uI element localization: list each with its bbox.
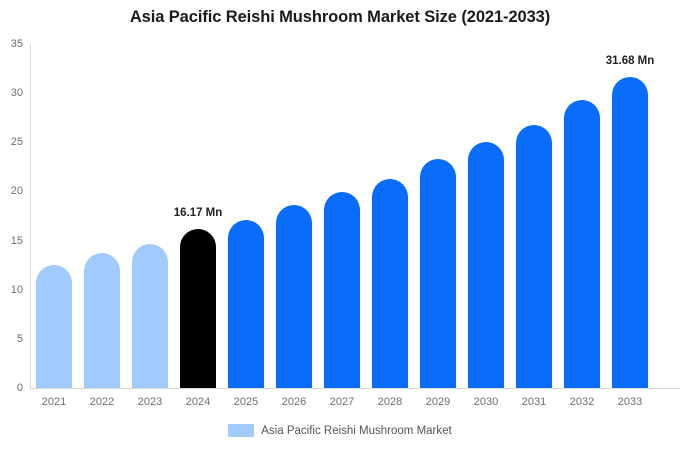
- x-axis-tick-2030: 2030: [462, 396, 510, 408]
- x-axis-tick-2025: 2025: [222, 396, 270, 408]
- bar-2033[interactable]: [612, 77, 648, 388]
- bar-2022[interactable]: [84, 253, 120, 388]
- x-axis-tick-2027: 2027: [318, 396, 366, 408]
- bar-2029[interactable]: [420, 159, 456, 388]
- bar-2028[interactable]: [372, 179, 408, 388]
- bar-2027[interactable]: [324, 192, 360, 388]
- bar-2023[interactable]: [132, 244, 168, 388]
- legend-item[interactable]: Asia Pacific Reishi Mushroom Market: [228, 424, 451, 437]
- bar-2021[interactable]: [36, 265, 72, 388]
- x-axis-tick-2028: 2028: [366, 396, 414, 408]
- bar-2030[interactable]: [468, 142, 504, 388]
- legend-label: Asia Pacific Reishi Mushroom Market: [261, 425, 451, 437]
- bar-2024[interactable]: [180, 229, 216, 388]
- legend-swatch-icon: [228, 424, 254, 437]
- plot-area: 05101520253035 16.17 Mn31.68 Mn 20212022…: [0, 0, 680, 400]
- x-axis-tick-2031: 2031: [510, 396, 558, 408]
- bar-2032[interactable]: [564, 100, 600, 388]
- bar-chart: Asia Pacific Reishi Mushroom Market Size…: [0, 0, 680, 450]
- x-axis-tick-2023: 2023: [126, 396, 174, 408]
- bar-2026[interactable]: [276, 205, 312, 388]
- x-axis-tick-2026: 2026: [270, 396, 318, 408]
- bar-value-label-2033: 31.68 Mn: [585, 55, 675, 67]
- x-axis-tick-2022: 2022: [78, 396, 126, 408]
- bar-2025[interactable]: [228, 220, 264, 388]
- bars-layer: 16.17 Mn31.68 Mn: [0, 0, 680, 400]
- bar-2031[interactable]: [516, 125, 552, 388]
- x-axis-tick-2033: 2033: [606, 396, 654, 408]
- bar-value-label-2024: 16.17 Mn: [153, 207, 243, 219]
- x-axis-tick-2029: 2029: [414, 396, 462, 408]
- x-axis-tick-2024: 2024: [174, 396, 222, 408]
- x-axis-tick-2032: 2032: [558, 396, 606, 408]
- x-axis-tick-2021: 2021: [30, 396, 78, 408]
- chart-legend: Asia Pacific Reishi Mushroom Market: [0, 424, 680, 437]
